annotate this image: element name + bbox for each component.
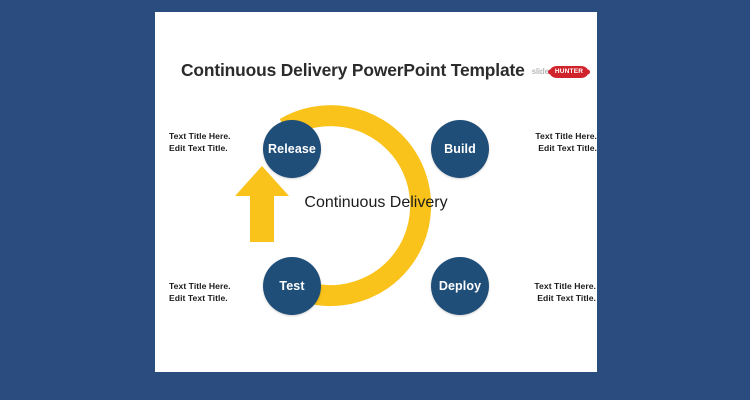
stage-node-test-label: Test <box>279 279 304 293</box>
center-label-line-2: Delivery <box>390 194 448 211</box>
caption-test-line-1: Text Title Here. <box>169 280 261 292</box>
caption-build-line-2: Edit Text Title. <box>505 142 597 154</box>
stage-node-build[interactable]: Build <box>431 120 489 178</box>
caption-deploy[interactable]: Text Title Here. Edit Text Title. <box>500 280 596 305</box>
caption-release[interactable]: Text Title Here. Edit Text Title. <box>169 130 261 155</box>
center-label-line-1: Continuous <box>304 194 385 211</box>
stage-node-build-label: Build <box>444 142 476 156</box>
caption-build[interactable]: Text Title Here. Edit Text Title. <box>505 130 597 155</box>
continuous-delivery-diagram: Release Build Deploy Test Continuous Del… <box>155 12 597 372</box>
stage-node-release[interactable]: Release <box>263 120 321 178</box>
caption-release-line-2: Edit Text Title. <box>169 142 261 154</box>
caption-deploy-line-1: Text Title Here. <box>500 280 596 292</box>
screenshot-canvas: Continuous Delivery PowerPoint Template … <box>0 0 750 400</box>
caption-release-line-1: Text Title Here. <box>169 130 261 142</box>
diagram-center-label: Continuous Delivery <box>300 192 452 213</box>
stage-node-release-label: Release <box>268 142 316 156</box>
stage-node-deploy-label: Deploy <box>439 279 481 293</box>
slide-card: Continuous Delivery PowerPoint Template … <box>155 12 597 372</box>
stage-node-test[interactable]: Test <box>263 257 321 315</box>
caption-test-line-2: Edit Text Title. <box>169 292 261 304</box>
caption-build-line-1: Text Title Here. <box>505 130 597 142</box>
stage-node-deploy[interactable]: Deploy <box>431 257 489 315</box>
caption-deploy-line-2: Edit Text Title. <box>500 292 596 304</box>
caption-test[interactable]: Text Title Here. Edit Text Title. <box>169 280 261 305</box>
cycle-arrow-icon <box>235 166 289 242</box>
